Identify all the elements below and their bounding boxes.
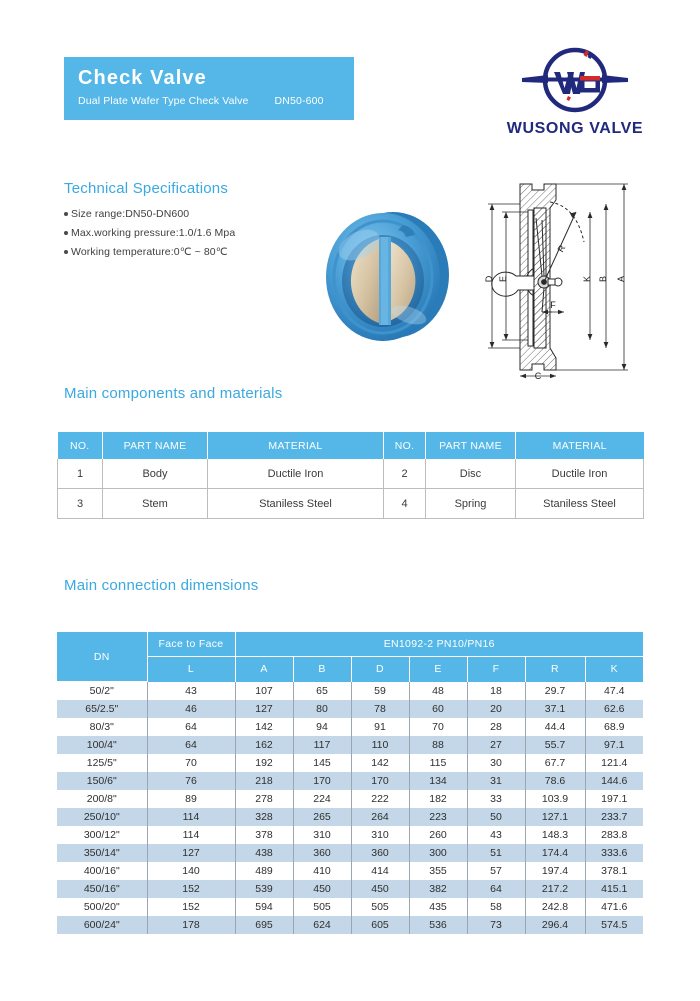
cell-E: 536 (409, 916, 467, 934)
cell-E: 134 (409, 772, 467, 790)
cell-R: 242.8 (525, 898, 585, 916)
cell-A: 192 (235, 754, 293, 772)
cell-no: 1 (58, 459, 103, 489)
cell-D: 505 (351, 898, 409, 916)
col-material-1: MATERIAL (208, 432, 384, 459)
company-logo: WUSONG VALVE (480, 44, 670, 154)
cell-R: 127.1 (525, 808, 585, 826)
col-E: E (409, 657, 467, 682)
cell-K: 62.6 (585, 700, 643, 718)
spec-text: Max.working pressure:1.0/1.6 Mpa (71, 226, 235, 240)
dimensions-table: DN Face to Face EN1092-2 PN10/PN16 L A B… (57, 632, 643, 934)
datasheet-page: Check Valve Dual Plate Wafer Type Check … (0, 0, 700, 1001)
cell-E: 435 (409, 898, 467, 916)
cell-L: 64 (147, 736, 235, 754)
table-row: 400/16"14048941041435557197.4378.1 (57, 862, 643, 880)
cell-A: 539 (235, 880, 293, 898)
cell-L: 152 (147, 880, 235, 898)
cell-B: 450 (293, 880, 351, 898)
cell-no: 2 (384, 459, 426, 489)
cell-D: 110 (351, 736, 409, 754)
col-K: K (585, 657, 643, 682)
cell-R: 44.4 (525, 718, 585, 736)
wusong-logo-icon (520, 44, 630, 116)
drawing-label-B: B (598, 276, 608, 282)
table-row: 1 Body Ductile Iron 2 Disc Ductile Iron (58, 459, 644, 489)
table-row: 150/6"762181701701343178.6144.6 (57, 772, 643, 790)
spec-text: Working temperature:0℃ ~ 80℃ (71, 245, 228, 259)
cell-A: 438 (235, 844, 293, 862)
cell-L: 64 (147, 718, 235, 736)
cell-dn: 350/14" (57, 844, 147, 862)
cell-A: 142 (235, 718, 293, 736)
cell-B: 65 (293, 682, 351, 701)
cell-K: 68.9 (585, 718, 643, 736)
cell-B: 145 (293, 754, 351, 772)
cell-R: 148.3 (525, 826, 585, 844)
table-row: 200/8"8927822422218233103.9197.1 (57, 790, 643, 808)
cell-K: 283.8 (585, 826, 643, 844)
cell-R: 78.6 (525, 772, 585, 790)
bullet-icon (64, 212, 68, 216)
cell-B: 310 (293, 826, 351, 844)
cell-A: 127 (235, 700, 293, 718)
cell-dn: 250/10" (57, 808, 147, 826)
cell-K: 144.6 (585, 772, 643, 790)
cell-B: 410 (293, 862, 351, 880)
cell-L: 114 (147, 826, 235, 844)
cell-D: 59 (351, 682, 409, 701)
cell-F: 58 (467, 898, 525, 916)
cell-E: 355 (409, 862, 467, 880)
cell-R: 217.2 (525, 880, 585, 898)
table-row: 80/3"641429491702844.468.9 (57, 718, 643, 736)
cell-R: 67.7 (525, 754, 585, 772)
cell-L: 70 (147, 754, 235, 772)
cell-K: 333.6 (585, 844, 643, 862)
cell-dn: 50/2" (57, 682, 147, 701)
cell-K: 47.4 (585, 682, 643, 701)
cell-D: 222 (351, 790, 409, 808)
cell-F: 51 (467, 844, 525, 862)
cell-R: 29.7 (525, 682, 585, 701)
cell-R: 296.4 (525, 916, 585, 934)
cell-part-name: Disc (426, 459, 516, 489)
cell-dn: 200/8" (57, 790, 147, 808)
cell-F: 64 (467, 880, 525, 898)
cell-R: 37.1 (525, 700, 585, 718)
cell-E: 60 (409, 700, 467, 718)
cell-F: 28 (467, 718, 525, 736)
title-band: Check Valve Dual Plate Wafer Type Check … (64, 57, 354, 120)
cell-F: 27 (467, 736, 525, 754)
cell-R: 174.4 (525, 844, 585, 862)
cell-A: 328 (235, 808, 293, 826)
cell-B: 80 (293, 700, 351, 718)
cell-dn: 600/24" (57, 916, 147, 934)
cell-L: 114 (147, 808, 235, 826)
cell-no: 4 (384, 489, 426, 519)
cell-part-name: Spring (426, 489, 516, 519)
table-row: 125/5"701921451421153067.7121.4 (57, 754, 643, 772)
cell-K: 121.4 (585, 754, 643, 772)
cell-no: 3 (58, 489, 103, 519)
cell-F: 33 (467, 790, 525, 808)
cell-K: 378.1 (585, 862, 643, 880)
cell-E: 223 (409, 808, 467, 826)
cell-B: 170 (293, 772, 351, 790)
col-D: D (351, 657, 409, 682)
list-item: Size range:DN50-DN600 (64, 207, 235, 221)
cell-L: 89 (147, 790, 235, 808)
cell-D: 170 (351, 772, 409, 790)
cell-A: 107 (235, 682, 293, 701)
cell-A: 594 (235, 898, 293, 916)
table-row: 500/20"15259450550543558242.8471.6 (57, 898, 643, 916)
cell-L: 152 (147, 898, 235, 916)
cell-B: 505 (293, 898, 351, 916)
col-face-to-face: Face to Face (147, 632, 235, 657)
section-heading-technical: Technical Specifications (64, 180, 228, 197)
table-row: 600/24"17869562460553673296.4574.5 (57, 916, 643, 934)
drawing-label-K: K (582, 276, 592, 282)
col-F: F (467, 657, 525, 682)
cell-D: 264 (351, 808, 409, 826)
cell-K: 574.5 (585, 916, 643, 934)
cell-D: 450 (351, 880, 409, 898)
cell-L: 127 (147, 844, 235, 862)
cell-L: 43 (147, 682, 235, 701)
cell-L: 178 (147, 916, 235, 934)
cell-dn: 100/4" (57, 736, 147, 754)
cell-D: 78 (351, 700, 409, 718)
drawing-label-E: E (498, 276, 508, 282)
table-header-group-row: DN Face to Face EN1092-2 PN10/PN16 (57, 632, 643, 657)
cell-E: 70 (409, 718, 467, 736)
drawing-label-D: D (484, 275, 494, 282)
cell-L: 140 (147, 862, 235, 880)
cell-F: 30 (467, 754, 525, 772)
cell-L: 46 (147, 700, 235, 718)
company-name: WUSONG VALVE (480, 120, 670, 138)
cell-E: 260 (409, 826, 467, 844)
cell-F: 43 (467, 826, 525, 844)
cell-B: 94 (293, 718, 351, 736)
cell-A: 162 (235, 736, 293, 754)
col-dn: DN (57, 632, 147, 682)
section-heading-dimensions: Main connection dimensions (64, 577, 258, 594)
cell-D: 142 (351, 754, 409, 772)
cell-A: 489 (235, 862, 293, 880)
cell-dn: 300/12" (57, 826, 147, 844)
cell-part-name: Stem (103, 489, 208, 519)
cell-B: 624 (293, 916, 351, 934)
cell-K: 415.1 (585, 880, 643, 898)
list-item: Working temperature:0℃ ~ 80℃ (64, 245, 235, 259)
drawing-label-C: C (535, 371, 542, 380)
spec-text: Size range:DN50-DN600 (71, 207, 189, 221)
table-row: 300/12"11437831031026043148.3283.8 (57, 826, 643, 844)
col-no-1: NO. (58, 432, 103, 459)
cell-K: 197.1 (585, 790, 643, 808)
cell-K: 471.6 (585, 898, 643, 916)
cell-F: 18 (467, 682, 525, 701)
cell-E: 300 (409, 844, 467, 862)
page-title: Check Valve (78, 66, 354, 90)
section-heading-components: Main components and materials (64, 385, 282, 402)
bullet-icon (64, 250, 68, 254)
cell-E: 88 (409, 736, 467, 754)
cell-K: 233.7 (585, 808, 643, 826)
cell-E: 48 (409, 682, 467, 701)
cell-D: 605 (351, 916, 409, 934)
table-row: 65/2.5"461278078602037.162.6 (57, 700, 643, 718)
cell-dn: 500/20" (57, 898, 147, 916)
cell-B: 224 (293, 790, 351, 808)
table-row: 50/2"431076559481829.747.4 (57, 682, 643, 701)
cell-K: 97.1 (585, 736, 643, 754)
cell-L: 76 (147, 772, 235, 790)
cell-B: 360 (293, 844, 351, 862)
cell-R: 197.4 (525, 862, 585, 880)
col-no-2: NO. (384, 432, 426, 459)
components-table: NO. PART NAME MATERIAL NO. PART NAME MAT… (57, 432, 644, 519)
col-partname-1: PART NAME (103, 432, 208, 459)
cell-D: 414 (351, 862, 409, 880)
cell-A: 218 (235, 772, 293, 790)
cell-material: Ductile Iron (516, 459, 644, 489)
product-photo (305, 205, 465, 350)
col-L: L (147, 657, 235, 682)
table-header-row: NO. PART NAME MATERIAL NO. PART NAME MAT… (58, 432, 644, 459)
cell-dn: 400/16" (57, 862, 147, 880)
cell-material: Ductile Iron (208, 459, 384, 489)
product-subtitle: Dual Plate Wafer Type Check Valve (78, 94, 249, 108)
cell-dn: 65/2.5" (57, 700, 147, 718)
col-R: R (525, 657, 585, 682)
col-material-2: MATERIAL (516, 432, 644, 459)
table-row: 3 Stem Staniless Steel 4 Spring Staniles… (58, 489, 644, 519)
cell-F: 50 (467, 808, 525, 826)
col-B: B (293, 657, 351, 682)
cell-dn: 80/3" (57, 718, 147, 736)
cell-dn: 450/16" (57, 880, 147, 898)
cell-E: 182 (409, 790, 467, 808)
cell-F: 31 (467, 772, 525, 790)
cell-dn: 150/6" (57, 772, 147, 790)
table-row: 250/10"11432826526422350127.1233.7 (57, 808, 643, 826)
cell-E: 382 (409, 880, 467, 898)
col-A: A (235, 657, 293, 682)
cell-F: 73 (467, 916, 525, 934)
cell-R: 103.9 (525, 790, 585, 808)
technical-drawing: D E F R K B A C (472, 172, 662, 380)
spec-list: Size range:DN50-DN600 Max.working pressu… (64, 207, 235, 264)
cell-A: 378 (235, 826, 293, 844)
cell-part-name: Body (103, 459, 208, 489)
table-row: 350/14"12743836036030051174.4333.6 (57, 844, 643, 862)
col-standard: EN1092-2 PN10/PN16 (235, 632, 643, 657)
cell-A: 695 (235, 916, 293, 934)
cell-material: Staniless Steel (208, 489, 384, 519)
cell-F: 57 (467, 862, 525, 880)
cell-E: 115 (409, 754, 467, 772)
bullet-icon (64, 231, 68, 235)
table-row: 100/4"64162117110882755.797.1 (57, 736, 643, 754)
cell-dn: 125/5" (57, 754, 147, 772)
cell-A: 278 (235, 790, 293, 808)
cell-R: 55.7 (525, 736, 585, 754)
cell-F: 20 (467, 700, 525, 718)
product-size-range: DN50-600 (275, 94, 324, 108)
col-partname-2: PART NAME (426, 432, 516, 459)
table-row: 450/16"15253945045038264217.2415.1 (57, 880, 643, 898)
cell-D: 360 (351, 844, 409, 862)
cell-B: 117 (293, 736, 351, 754)
drawing-label-A: A (616, 276, 626, 282)
cell-B: 265 (293, 808, 351, 826)
cell-material: Staniless Steel (516, 489, 644, 519)
drawing-label-F: F (550, 300, 556, 310)
cell-D: 310 (351, 826, 409, 844)
list-item: Max.working pressure:1.0/1.6 Mpa (64, 226, 235, 240)
cell-D: 91 (351, 718, 409, 736)
